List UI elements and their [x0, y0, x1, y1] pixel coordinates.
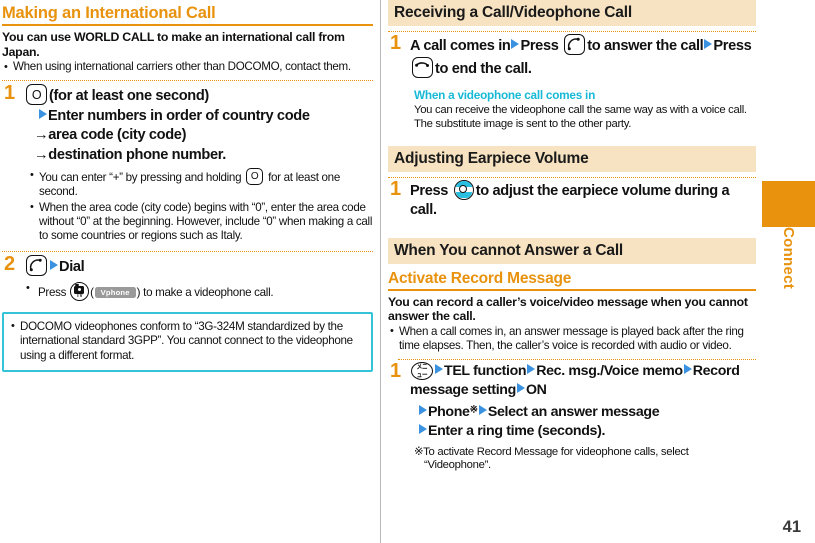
call-key-icon — [26, 255, 47, 276]
arrow-icon-4 — [704, 39, 712, 49]
step-2-bullet-pre: Press — [38, 286, 66, 299]
arrow-right-icon-2: → — [34, 146, 48, 166]
step-receiving-part2: Press — [520, 38, 558, 54]
manual-page: Making an International Call You can use… — [0, 0, 815, 543]
step-receiving-part1: A call comes in — [410, 38, 510, 54]
videophone-note-heading: When a videophone call comes in — [414, 88, 756, 102]
step-receiving-1-body: A call comes inPress to answer the callP… — [410, 34, 756, 79]
step-1: 1 O(for at least one second) Enter numbe… — [2, 84, 373, 243]
step-divider — [2, 80, 373, 81]
record-intro: You can record a caller’s voice/video me… — [388, 295, 756, 324]
section-heading-cannot-answer: When You cannot Answer a Call — [388, 238, 756, 264]
record-item-4: Phone — [428, 404, 470, 420]
nav-center-ring — [459, 185, 467, 193]
step-2-number: 2 — [4, 254, 15, 274]
note-box: DOCOMO videophones conform to “3G-324M s… — [2, 312, 373, 372]
note-box-bullet: DOCOMO videophones conform to “3G-324M s… — [9, 320, 364, 364]
arrow-icon-3 — [511, 39, 519, 49]
record-item-1: Rec. msg./Voice memo — [536, 363, 683, 379]
call-key-icon-2 — [564, 34, 585, 55]
arrow-icon-6 — [527, 364, 535, 374]
nav-key-icon — [454, 180, 474, 200]
step-record-1: 1 メニューTEL functionRec. msg./Voice memoRe… — [388, 362, 756, 473]
right-column: Receiving a Call/Videophone Call 1 A cal… — [388, 0, 756, 473]
step-2-body: Dial — [24, 255, 373, 278]
step-1-body: O(for at least one second) Enter numbers… — [24, 84, 373, 165]
arrow-icon — [39, 109, 47, 119]
arrow-icon-10 — [479, 405, 487, 415]
step-receiving-part5: to end the call. — [435, 61, 532, 77]
chapter-tab-label: Connect — [762, 227, 815, 347]
footnote-mark: ※ — [470, 404, 478, 415]
record-item-6: Enter a ring time (seconds). — [428, 423, 605, 439]
step-2-bullet-post: ) to make a videophone call. — [137, 286, 274, 299]
camera-tv-key-icon: TV — [70, 282, 89, 301]
step-1-line4: destination phone number. — [48, 147, 226, 163]
step-earpiece-1-body: Press to adjust the earpiece volume duri… — [410, 180, 756, 221]
page-number: 41 — [783, 518, 801, 537]
step-receiving-part3: to answer the call — [587, 38, 703, 54]
record-item-3: ON — [526, 382, 547, 398]
intro-text: You can use WORLD CALL to make an intern… — [2, 30, 373, 59]
menu-key-icon: メニュー — [411, 362, 433, 380]
step-2-bullet: Press TV(Vphone) to make a videophone ca… — [24, 282, 373, 301]
left-column: Making an International Call You can use… — [0, 0, 373, 372]
subheading-record-message: Activate Record Message — [388, 269, 756, 291]
arrow-icon-9 — [419, 405, 427, 415]
arrow-icon-11 — [419, 424, 427, 434]
chapter-tab-text: Connect — [762, 227, 815, 289]
menu-key-label: メニュー — [414, 363, 430, 379]
key-zero-label: O — [27, 88, 46, 101]
column-divider — [380, 0, 381, 543]
key-zero-icon: O — [26, 84, 47, 105]
intro-bullet: When using international carriers other … — [2, 60, 373, 74]
arrow-icon-2 — [50, 260, 58, 270]
softkey-vphone: Vphone — [95, 287, 136, 299]
record-footnote-text: To activate Record Message for videophon… — [423, 446, 688, 472]
tv-label: TV — [71, 294, 88, 299]
handset-glyph-2 — [567, 37, 581, 51]
r-step-divider-2 — [388, 177, 756, 178]
step-receiving-1-number: 1 — [390, 33, 401, 53]
arrow-icon-8 — [517, 383, 525, 393]
step-divider-2 — [2, 251, 373, 252]
record-item-0: TEL function — [444, 363, 526, 379]
step-1-bullet-2: When the area code (city code) begins wi… — [28, 201, 373, 244]
step-receiving-part4: Press — [713, 38, 751, 54]
nav-arc-bottom — [456, 192, 473, 198]
r-step-divider-1 — [388, 31, 756, 32]
step-1-bullet-1-pre: You can enter “+” by pressing and holdin… — [39, 171, 241, 184]
arrow-right-icon: → — [34, 126, 48, 146]
step-1-line3: area code (city code) — [48, 127, 186, 143]
step-2-label: Dial — [59, 259, 84, 275]
record-item-5: Select an answer message — [488, 404, 659, 420]
record-footnote-mark: ※ — [414, 446, 423, 458]
handset-glyph — [29, 258, 43, 272]
end-handset-glyph — [415, 59, 429, 73]
key-zero-icon-inline: O — [246, 168, 263, 185]
arrow-icon-7 — [684, 364, 692, 374]
step-receiving-1: 1 A call comes inPress to answer the cal… — [388, 34, 756, 132]
r-step-divider-3 — [398, 359, 756, 360]
record-footnote: ※To activate Record Message for videopho… — [410, 446, 756, 474]
page-title: Making an International Call — [2, 4, 373, 26]
end-call-key-icon — [412, 57, 433, 78]
section-heading-receiving: Receiving a Call/Videophone Call — [388, 0, 756, 26]
key-zero-label-inline: O — [247, 172, 262, 182]
step-record-1-number: 1 — [390, 361, 401, 381]
arrow-icon-5 — [435, 364, 443, 374]
record-bullet-1: When a call comes in, an answer message … — [388, 325, 756, 353]
step-1-number: 1 — [4, 83, 15, 103]
step-earpiece-1-number: 1 — [390, 179, 401, 199]
step-1-bullet-1: You can enter “+” by pressing and holdin… — [28, 168, 373, 199]
step-earpiece-1: 1 Press to adjust the earpiece volume du… — [388, 180, 756, 221]
section-heading-earpiece: Adjusting Earpiece Volume — [388, 146, 756, 172]
chapter-tab-block — [762, 181, 815, 227]
step-1-line2: Enter numbers in order of country code — [48, 108, 310, 124]
videophone-note-text: You can receive the videophone call the … — [414, 104, 756, 132]
step-2: 2 Dial Press TV(Vphone) to make a videop… — [2, 255, 373, 301]
step-1-line1: (for at least one second) — [49, 88, 209, 104]
step-earpiece-part1: Press — [410, 183, 448, 199]
step-record-1-body: メニューTEL functionRec. msg./Voice memoReco… — [410, 362, 756, 441]
